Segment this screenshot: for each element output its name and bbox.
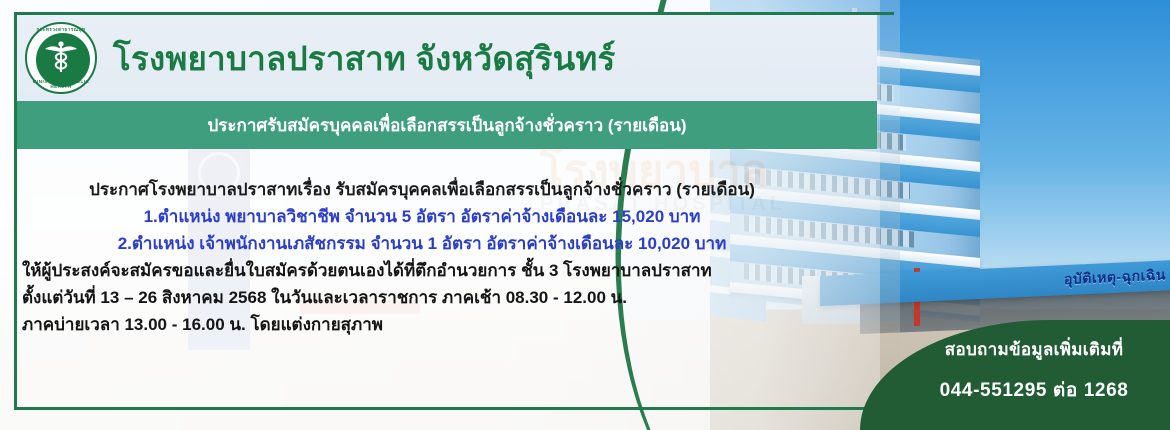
body-line-afternoon-hours: ภาคบ่ายเวลา 13.00 - 16.00 น. โดยแต่งกายส… (22, 311, 822, 338)
body-line-application-place: ให้ผู้ประสงค์จะสมัครขอและยื่นใบสมัครด้วย… (22, 257, 822, 284)
seal-ring-text-bottom: MINISTRY OF PUBLIC HEALTH (27, 79, 95, 89)
body-line-position-nurse: 1.ตำแหน่ง พยาบาลวิชาชีพ จำนวน 5 อัตรา อั… (22, 203, 822, 230)
contact-label: สอบถามข้อมูลเพิ่มเติมที่ (916, 336, 1152, 363)
announcement-body: ประกาศโรงพยาบาลปราสาทเรื่อง รับสมัครบุคค… (22, 176, 822, 338)
banner-header: กระทรวงสาธารณสุข MINISTRY OF PUBLIC HEAL… (17, 15, 877, 101)
announcement-subtitle-text: ประกาศรับสมัครบุคคลเพื่อเลือกสรรเป็นลูกจ… (207, 112, 686, 139)
body-line-announcement: ประกาศโรงพยาบาลปราสาทเรื่อง รับสมัครบุคค… (22, 176, 822, 203)
contact-phone[interactable]: 044-551295 ต่อ 1268 (916, 375, 1152, 405)
recruitment-banner: อุบัติเหตุ-ฉุกเฉิน โรงพยาบาล PRASAT HOSP… (0, 0, 1170, 430)
ministry-of-public-health-seal-icon: กระทรวงสาธารณสุข MINISTRY OF PUBLIC HEAL… (25, 22, 97, 94)
body-line-application-dates: ตั้งแต่วันที่ 13 – 26 สิงหาคม 2568 ในวัน… (22, 284, 822, 311)
body-line-position-pharmacy: 2.ตำแหน่ง เจ้าพนักงานเภสัชกรรม จำนวน 1 อ… (22, 230, 822, 257)
announcement-subtitle-bar: ประกาศรับสมัครบุคคลเพื่อเลือกสรรเป็นลูกจ… (17, 101, 877, 149)
emergency-sign-text: อุบัติเหตุ-ฉุกเฉิน (1064, 264, 1166, 291)
page-title: โรงพยาบาลปราสาท จังหวัดสุรินทร์ (113, 32, 616, 85)
